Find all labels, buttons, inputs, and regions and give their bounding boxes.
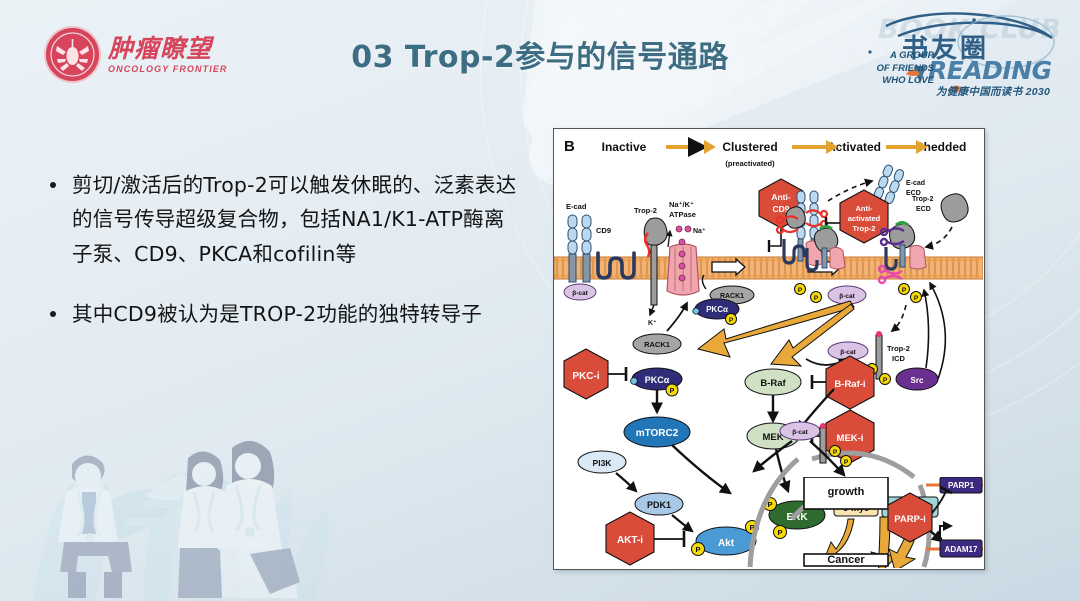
stage-label-inactive: Inactive xyxy=(602,140,647,154)
rack1-lower: RACK1 xyxy=(633,303,687,354)
label-trop2-ecd-1: Trop-2 xyxy=(912,196,933,203)
list-item: 其中CD9被认为是TROP-2功能的独特转导子 xyxy=(50,297,520,331)
label-trop2: Trop-2 xyxy=(634,206,657,215)
label-trop2-icd-1: Trop-2 xyxy=(887,344,910,353)
node-bcat: β-cat xyxy=(572,290,588,297)
anti-trop2-line-2: activated xyxy=(848,214,881,223)
braf-node: B-Raf xyxy=(745,369,801,421)
stage-sublabel: (preactivated) xyxy=(725,159,775,168)
anti-trop2-line-1: Anti- xyxy=(855,204,873,213)
logo-tagline: 为健康中国而读书 2030 xyxy=(936,84,1050,99)
logo-slogan-line-1: A GROUP xyxy=(864,50,934,63)
anti-cd9-line-1: Anti- xyxy=(771,192,791,202)
ecad-receptor: E-cad β-cat xyxy=(564,202,596,300)
label-trop2-ecd-2: ECD xyxy=(916,206,931,213)
node-mtorc2: mTORC2 xyxy=(636,428,679,439)
phospho-icon: P xyxy=(883,377,888,384)
list-item: 剪切/激活后的Trop-2可以触发休眠的、泛素表达的信号传导超级复合物，包括NA… xyxy=(50,168,520,271)
anti-trop2-line-3: Trop-2 xyxy=(853,224,876,233)
bullet-dot-icon xyxy=(50,182,56,188)
node-mek-i: MEK-i xyxy=(837,433,864,444)
node-bcat: β-cat xyxy=(792,429,808,436)
label-k: K⁺ xyxy=(648,319,657,327)
node-bcat: β-cat xyxy=(840,349,856,356)
logo-en-name-right: READING xyxy=(928,56,1052,85)
logo-slogan-line-3: WHO LOVE xyxy=(864,75,934,88)
label-ecad-ecd-1: E-cad xyxy=(906,180,925,187)
node-pkc-i: PKC-i xyxy=(572,371,599,382)
phospho-icon: P xyxy=(844,459,849,466)
bullet-dot-icon xyxy=(50,311,56,317)
node-rack1: RACK1 xyxy=(644,340,670,349)
phospho-icon: P xyxy=(914,295,919,302)
node-parp-i: PARP-i xyxy=(894,514,926,525)
stage-label-clustered: Clustered xyxy=(722,140,777,154)
slide-header: 肿瘤瞭望 ONCOLOGY FRONTIER 03 Trop-2参与的信号通路 … xyxy=(0,0,1080,104)
label-atpase-1: Na⁺/K⁺ xyxy=(669,200,694,209)
phospho-icon: P xyxy=(833,449,838,456)
bullet-text: 其中CD9被认为是TROP-2功能的独特转导子 xyxy=(72,297,482,331)
rack1-pkca-complex-membrane: RACK1 PKCα P xyxy=(693,275,754,325)
phospho-icon: P xyxy=(902,287,907,294)
phospho-icon: P xyxy=(729,317,734,324)
node-parp1: PARP1 xyxy=(948,481,975,490)
panel-label: B xyxy=(564,138,575,155)
phospho-icon: P xyxy=(814,295,819,302)
label-atpase-2: ATPase xyxy=(669,210,696,219)
bullet-text: 剪切/激活后的Trop-2可以触发休眠的、泛素表达的信号传导超级复合物，包括NA… xyxy=(72,168,520,271)
phospho-icon: P xyxy=(798,287,803,294)
signaling-pathway-figure: B Inactive Clustered (preactivated) Acti… xyxy=(553,128,985,570)
node-pkca: PKCα xyxy=(706,305,728,314)
shedded-receptor: P P xyxy=(879,223,926,303)
label-ecad: E-cad xyxy=(566,202,587,211)
doctors-illustration-watermark xyxy=(4,396,334,601)
na-k-atpase: Na⁺/K⁺ ATPase Na⁺ xyxy=(667,200,706,295)
label-cd9: CD9 xyxy=(596,226,611,235)
node-braf: B-Raf xyxy=(760,378,786,389)
logo-slogan: A GROUP OF FRIENDS WHO LOVE xyxy=(864,50,934,88)
node-pi3k: PI3K xyxy=(593,458,613,468)
logo-slogan-line-2: OF FRIENDS xyxy=(864,63,934,76)
bullet-list: 剪切/激活后的Trop-2可以触发休眠的、泛素表达的信号传导超级复合物，包括NA… xyxy=(50,168,520,358)
trop2-ecd-fragment: Trop-2 ECD xyxy=(912,194,968,247)
phospho-icon: P xyxy=(670,388,675,395)
node-braf-i: B-Raf-i xyxy=(834,379,865,390)
slide-canvas: 肿瘤瞭望 ONCOLOGY FRONTIER 03 Trop-2参与的信号通路 … xyxy=(0,0,1080,601)
node-pkca: PKCα xyxy=(645,375,670,385)
node-src: Src xyxy=(911,376,924,385)
node-bcat: β-cat xyxy=(839,293,855,300)
reading-club-logo: BOOK CLUB 书友圈 READING A GROUP OF FRIENDS… xyxy=(856,12,1066,96)
cancer-growth-line-2: growth xyxy=(828,486,865,498)
pkc-inhibitor: PKC-i xyxy=(564,349,626,399)
label-na: Na⁺ xyxy=(693,227,706,235)
label-trop2-icd-2: ICD xyxy=(892,354,906,363)
parp-subfigure: growth PARP1 PARP-i xyxy=(554,477,983,567)
